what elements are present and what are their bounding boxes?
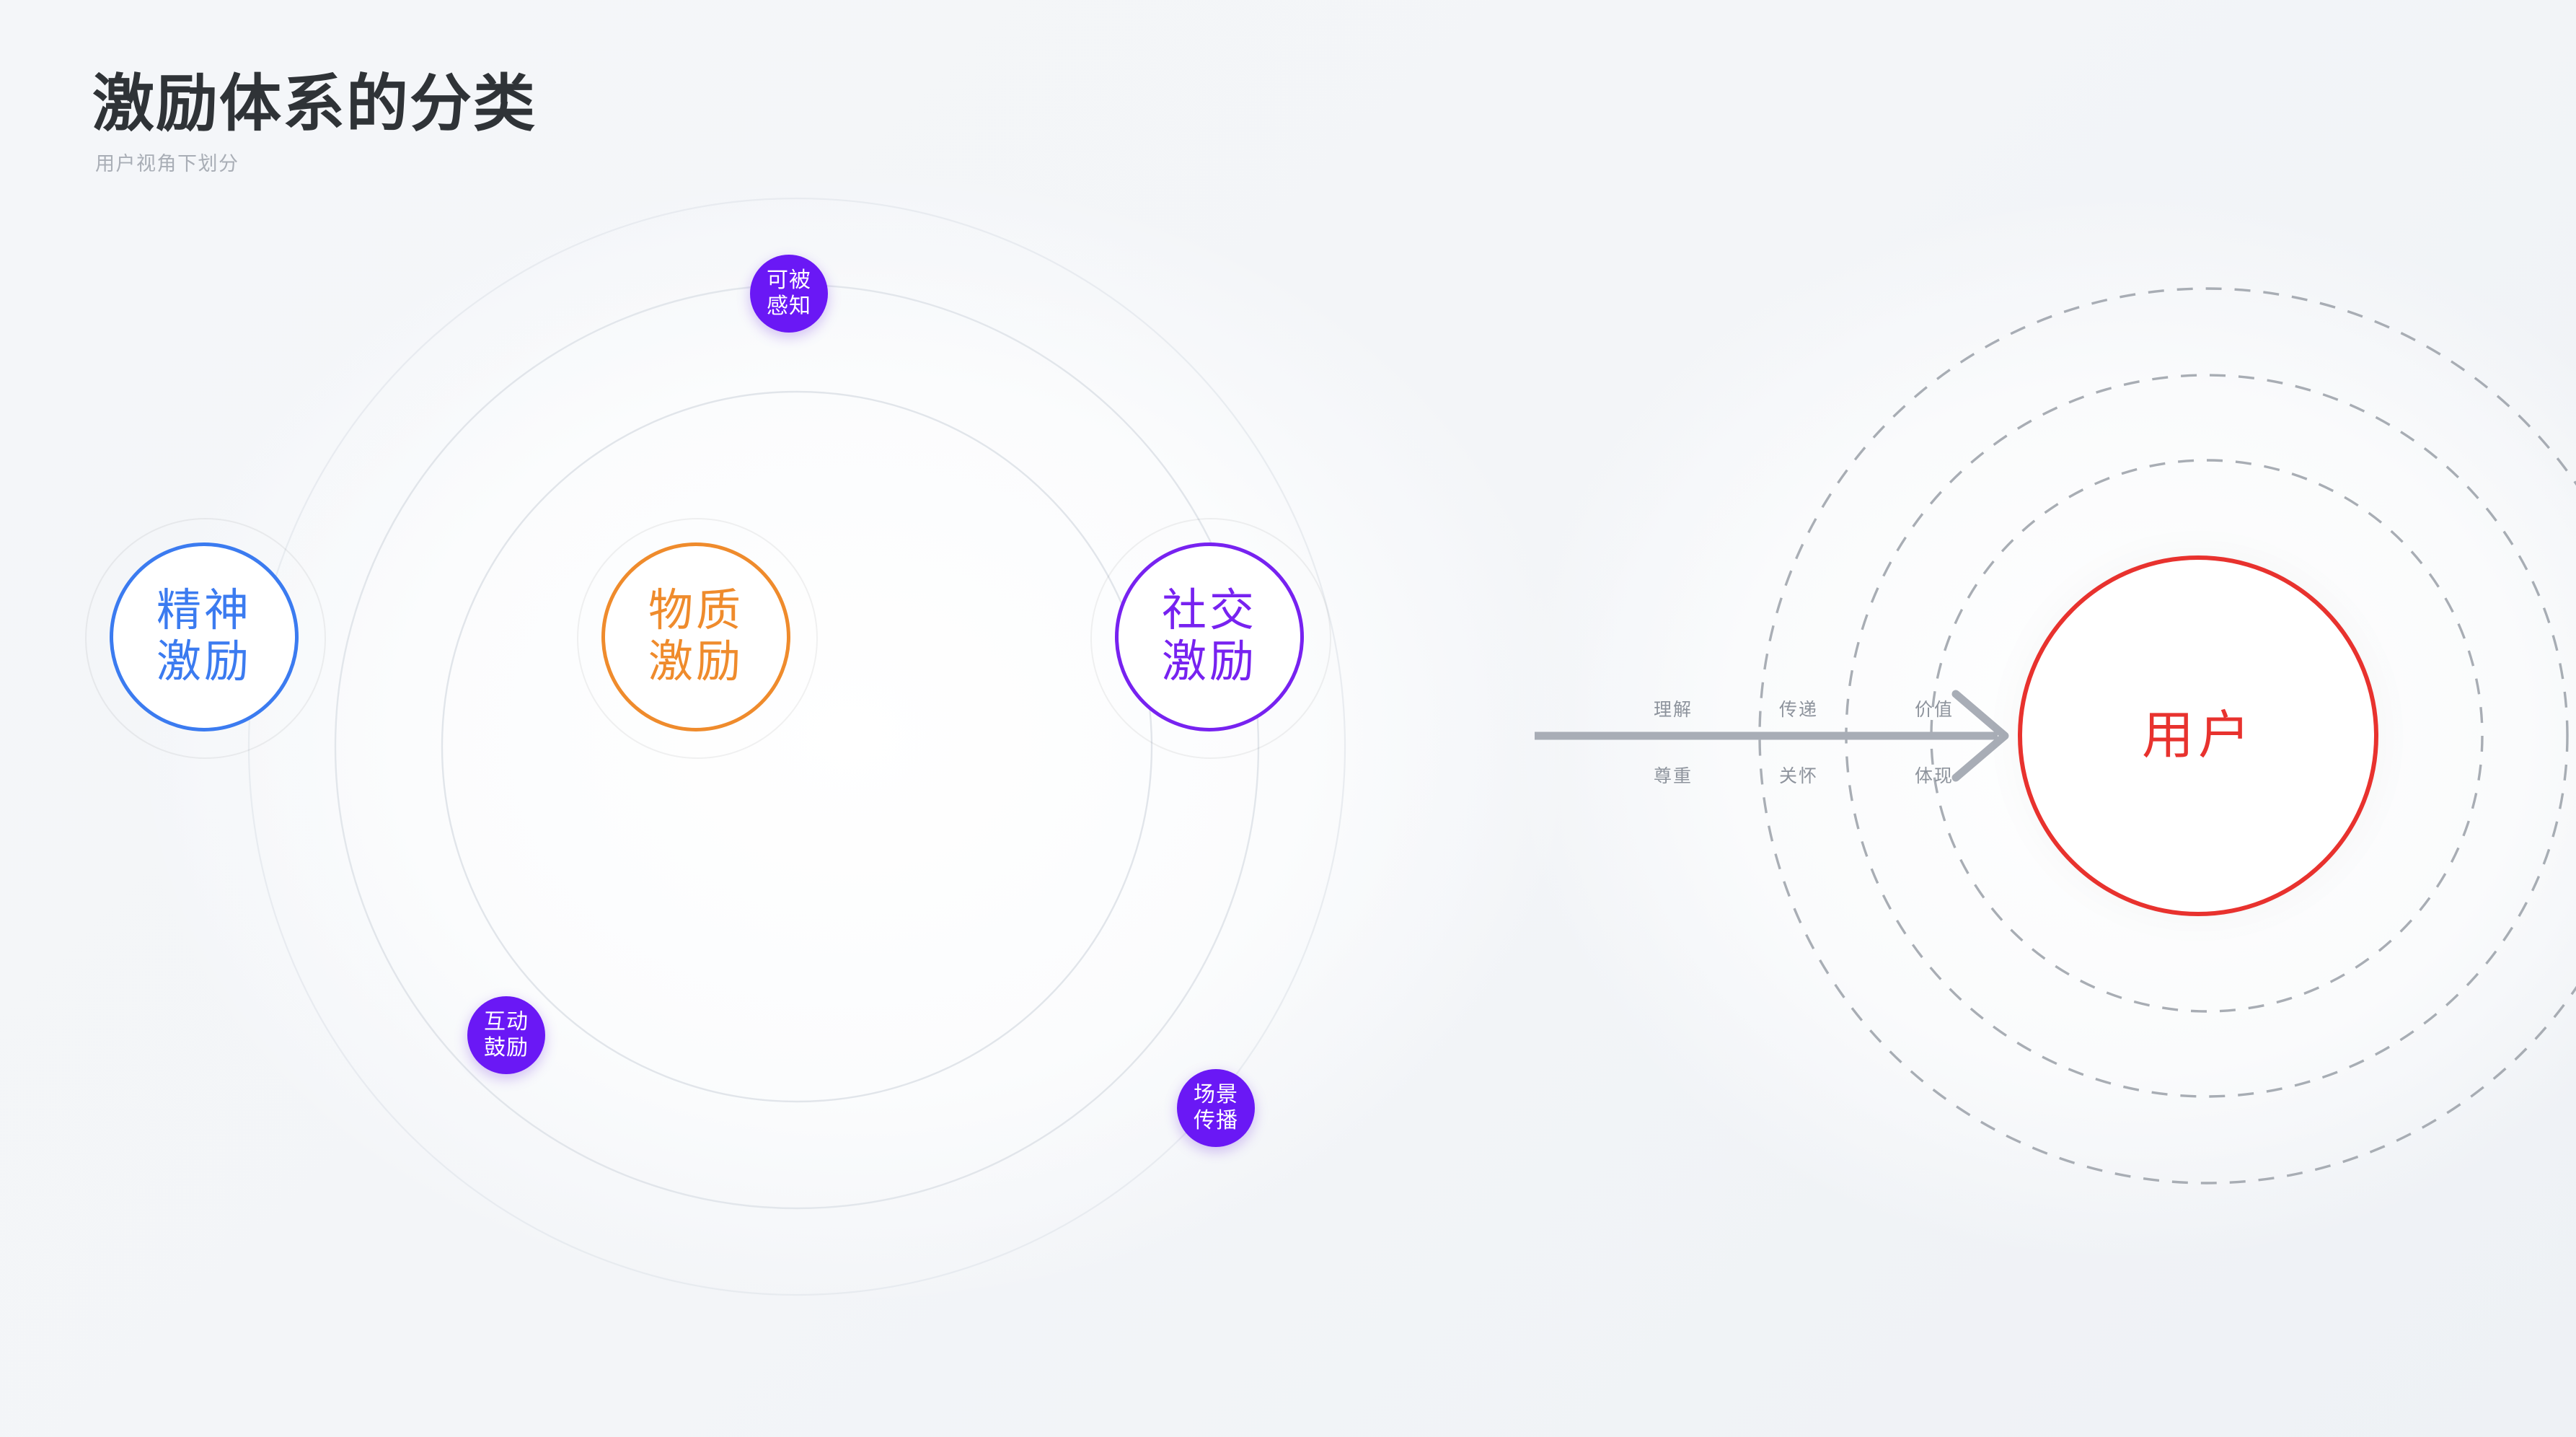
bubble-label-perceivable-line2: 感知 — [767, 294, 811, 320]
diagram-header: 激励体系的分类 用户视角下划分 — [92, 71, 537, 176]
category-label-social-line1: 社交 — [1162, 586, 1257, 637]
left-concentric-arcs — [335, 285, 1258, 1208]
category-label-spiritual-line2: 激励 — [156, 637, 252, 688]
bg-arc-outer — [335, 285, 1258, 1208]
bubble-label-interaction-line1: 互动 — [484, 1009, 529, 1035]
bg-arc-mid — [442, 392, 1152, 1102]
category-circle-material[interactable]: 物质 激励 — [601, 542, 790, 731]
bubble-label-scene-spread-line1: 场景 — [1194, 1082, 1238, 1108]
attribute-bubble-perceivable[interactable]: 可被 感知 — [750, 255, 828, 333]
bubble-label-scene-spread-line2: 传播 — [1194, 1108, 1238, 1134]
bg-arc-outer2 — [249, 198, 1345, 1295]
attribute-bubble-scene-spread[interactable]: 场景 传播 — [1177, 1069, 1255, 1147]
category-label-material-line1: 物质 — [648, 586, 744, 637]
flow-label-2-bottom: 关怀 — [1779, 762, 1818, 788]
diagram-canvas: 激励体系的分类 用户视角下划分 精神 激励 物质 激励 社交 激励 可被 感知 … — [0, 0, 2576, 1437]
flow-label-2-top: 传递 — [1779, 695, 1818, 721]
category-label-material-line2: 激励 — [648, 637, 744, 688]
left-concentric-arcs-faint — [249, 198, 1345, 1295]
category-circle-social[interactable]: 社交 激励 — [1115, 542, 1304, 731]
target-circle-user[interactable]: 用户 — [2018, 555, 2378, 916]
flow-label-1-top: 理解 — [1654, 695, 1693, 721]
bubble-label-interaction-line2: 鼓励 — [484, 1035, 529, 1061]
flow-label-1-bottom: 尊重 — [1654, 762, 1693, 788]
target-label-user: 用户 — [2142, 706, 2254, 765]
category-label-spiritual-line1: 精神 — [156, 586, 252, 637]
category-label-social-line2: 激励 — [1162, 637, 1257, 688]
flow-label-3-bottom: 体现 — [1915, 762, 1954, 788]
bubble-label-perceivable-line1: 可被 — [767, 268, 811, 294]
attribute-bubble-interaction[interactable]: 互动 鼓励 — [467, 996, 545, 1074]
page-subtitle: 用户视角下划分 — [95, 148, 537, 176]
category-circle-spiritual[interactable]: 精神 激励 — [110, 542, 299, 731]
flow-label-3-top: 价值 — [1915, 695, 1954, 721]
page-title: 激励体系的分类 — [92, 71, 537, 138]
